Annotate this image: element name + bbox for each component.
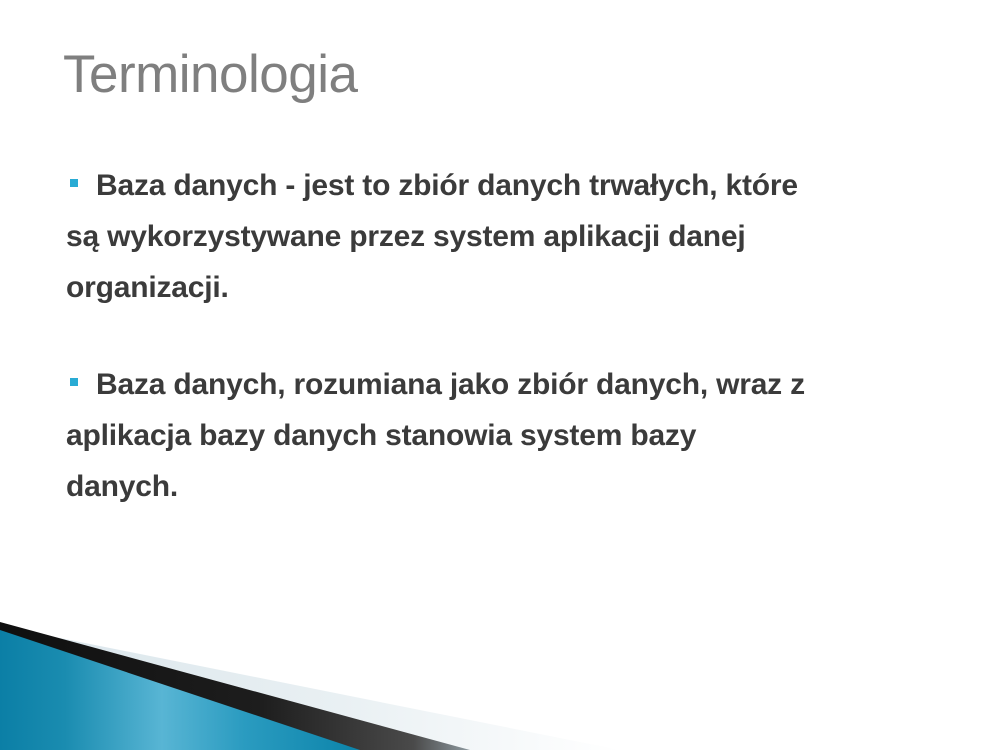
- page-title: Terminologia: [63, 44, 943, 106]
- pale-wedge-shape: [0, 626, 620, 750]
- dark-band-shape: [0, 622, 470, 750]
- presentation-slide: Terminologia Baza danych - jest to zbiór…: [0, 0, 1000, 750]
- slide-body: Baza danych - jest to zbiór danych trwał…: [66, 160, 866, 512]
- list-item: Baza danych - jest to zbiór danych trwał…: [66, 160, 866, 313]
- bullet-paragraph: Baza danych - jest to zbiór danych trwał…: [66, 160, 806, 313]
- list-item: Baza danych, rozumiana jako zbiór danych…: [66, 359, 866, 512]
- teal-triangle-shape: [0, 630, 360, 750]
- decorative-corner-graphic: [0, 610, 1000, 750]
- square-bullet-icon: [70, 179, 78, 187]
- bullet-paragraph: Baza danych, rozumiana jako zbiór danych…: [66, 359, 806, 512]
- square-bullet-icon: [70, 378, 78, 386]
